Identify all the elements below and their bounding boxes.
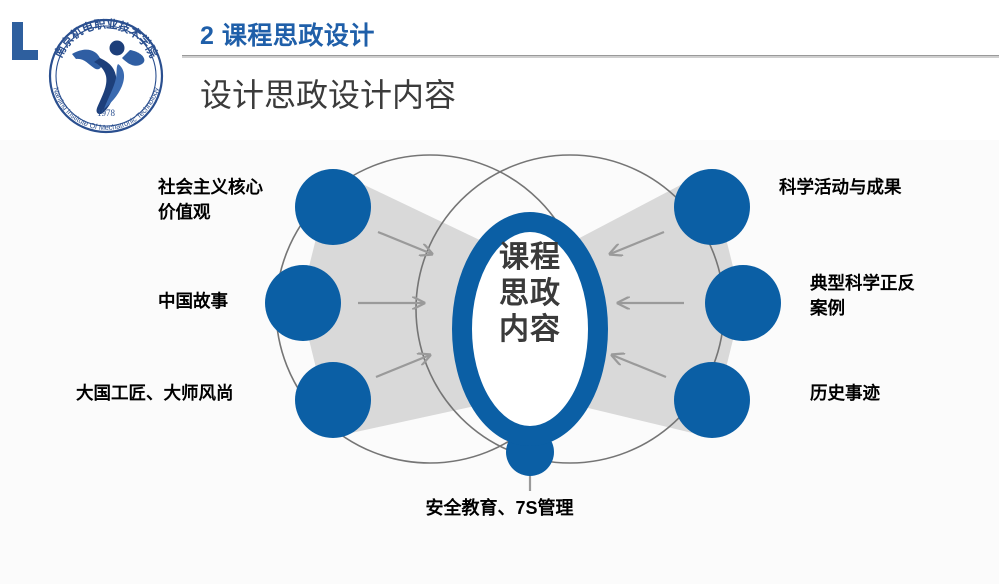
node-r2-circle[interactable]	[705, 265, 781, 341]
node-l3-circle[interactable]	[295, 362, 371, 438]
node-r3-circle[interactable]	[674, 362, 750, 438]
node-r1-circle[interactable]	[674, 169, 750, 245]
center-ellipse[interactable]	[462, 222, 598, 436]
node-l1-circle[interactable]	[295, 169, 371, 245]
slide-canvas: 1978 南京机电职业技术学院 Nanjing Institute Of Mec…	[0, 0, 999, 584]
node-l2-circle[interactable]	[265, 265, 341, 341]
label-node-r1: 科学活动与成果	[779, 175, 902, 200]
label-node-l2: 中国故事	[158, 289, 228, 314]
label-node-r3: 历史事迹	[810, 381, 880, 406]
label-node-l1: 社会主义核心 价值观	[158, 175, 263, 226]
label-node-l3: 大国工匠、大师风尚	[76, 381, 234, 406]
label-node-r2: 典型科学正反 案例	[810, 271, 915, 322]
label-node-bottom: 安全教育、7S管理	[0, 495, 999, 521]
